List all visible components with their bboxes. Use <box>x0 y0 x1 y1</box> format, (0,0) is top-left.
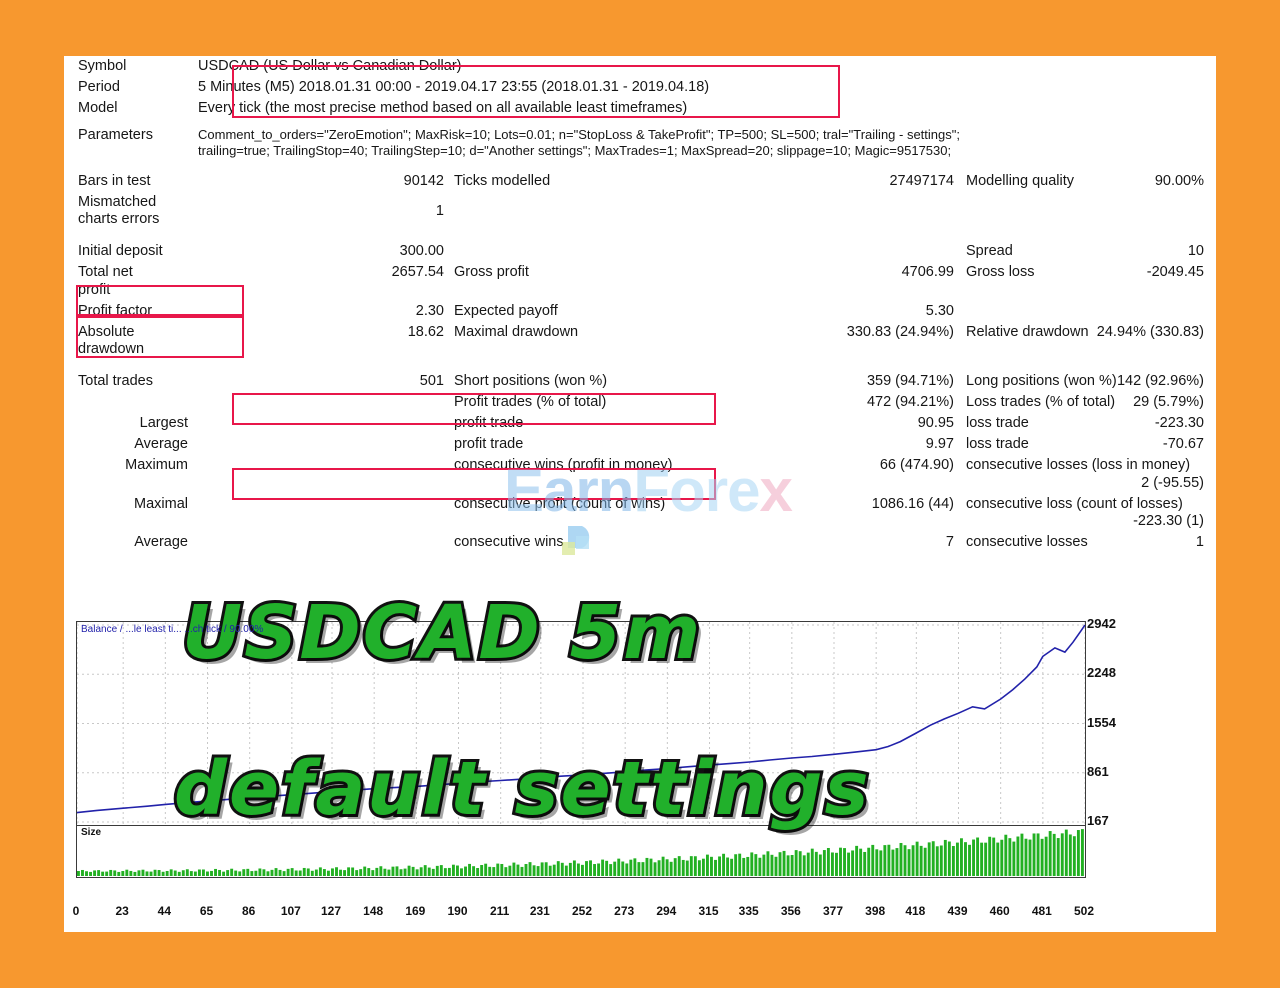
x-axis-tick: 439 <box>947 904 967 918</box>
profit-factor-label: Profit factor <box>64 301 192 322</box>
loss-trades-label: Loss trades (% of total) <box>966 394 1115 410</box>
row-largest: Largest profit trade 90.95 loss trade -2… <box>64 413 1216 434</box>
average-loss-trade-label: loss trade <box>966 436 1029 452</box>
absolute-drawdown-label-line1: Absolute <box>78 324 188 341</box>
x-axis-tick: 315 <box>698 904 718 918</box>
modelling-quality-label: Modelling quality <box>966 173 1074 189</box>
x-axis-tick: 356 <box>781 904 801 918</box>
gross-profit-label: Gross profit <box>448 262 704 300</box>
max-consecutive-wins-value: 66 (474.90) <box>704 455 960 493</box>
relative-drawdown-label: Relative drawdown <box>966 324 1089 340</box>
short-positions-label: Short positions (won %) <box>448 371 704 392</box>
x-axis-tick: 23 <box>115 904 128 918</box>
mismatched-charts-errors-label: Mismatched charts errors <box>64 192 192 230</box>
equity-chart-container: Balance / ...le least ti... ...ch tick /… <box>76 621 1156 901</box>
profit-trades-label: Profit trades (% of total) <box>448 392 704 413</box>
total-net-profit-label-line2: profit <box>78 282 188 299</box>
x-axis-tick: 107 <box>281 904 301 918</box>
x-axis-tick: 460 <box>990 904 1010 918</box>
x-axis-tick: 0 <box>73 904 80 918</box>
initial-deposit-label: Initial deposit <box>64 241 192 262</box>
ticks-modelled-value: 27497174 <box>704 171 960 192</box>
short-positions-value: 359 (94.71%) <box>704 371 960 392</box>
max-consecutive-losses-value: 2 (-95.55) <box>1141 475 1212 492</box>
long-positions-value: 142 (92.96%) <box>1117 373 1212 390</box>
mismatched-label-line1: Mismatched <box>78 194 188 211</box>
relative-drawdown-cell: Relative drawdown 24.94% (330.83) <box>960 322 1216 360</box>
x-axis-tick: 377 <box>823 904 843 918</box>
row-absolute-drawdown: Absolute drawdown 18.62 Maximal drawdown… <box>64 322 1216 360</box>
balance-curve-svg <box>77 622 1085 825</box>
period-value: 5 Minutes (M5) 2018.01.31 00:00 - 2019.0… <box>192 77 1216 98</box>
largest-profit-trade-label: profit trade <box>448 413 704 434</box>
chart-legend: Balance / ...le least ti... ...ch tick /… <box>81 624 263 635</box>
long-positions-cell: Long positions (won %) 142 (92.96%) <box>960 371 1216 392</box>
average-profit-trade-label: profit trade <box>448 434 704 455</box>
model-value: Every tick (the most precise method base… <box>192 98 1216 119</box>
row-profit-factor: Profit factor 2.30 Expected payoff 5.30 <box>64 301 1216 322</box>
average-label: Average <box>64 434 192 455</box>
avg-consecutive-wins-label: consecutive wins <box>448 532 704 553</box>
row-average-consecutive: Average consecutive wins 7 consecutive l… <box>64 532 1216 553</box>
max-consecutive-wins-label: consecutive wins (profit in money) <box>448 455 704 493</box>
parameters-label: Parameters <box>64 125 192 160</box>
largest-label: Largest <box>64 413 192 434</box>
x-axis-tick: 335 <box>739 904 759 918</box>
maximum-label: Maximum <box>64 455 192 493</box>
size-panel-label: Size <box>81 827 101 838</box>
maximal-consecutive-loss-cell: consecutive loss (count of losses) -223.… <box>960 494 1216 532</box>
y-axis-tick: 2942 <box>1087 616 1116 631</box>
maximal-drawdown-label: Maximal drawdown <box>448 322 704 360</box>
size-chart-panel: Size <box>76 826 1086 878</box>
largest-loss-trade-cell: loss trade -223.30 <box>960 413 1216 434</box>
row-average: Average profit trade 9.97 loss trade -70… <box>64 434 1216 455</box>
spread-cell: Spread 10 <box>960 241 1216 262</box>
x-axis-tick: 169 <box>405 904 425 918</box>
parameters-line-2: trailing=true; TrailingStop=40; Trailing… <box>198 143 1212 158</box>
symbol-label: Symbol <box>64 56 192 77</box>
avg-consecutive-losses-value: 1 <box>1196 534 1212 551</box>
gross-profit-value: 4706.99 <box>704 262 960 300</box>
absolute-drawdown-value: 18.62 <box>192 322 448 360</box>
maximal-label: Maximal <box>64 494 192 532</box>
model-label: Model <box>64 98 192 119</box>
x-axis-tick: 65 <box>200 904 213 918</box>
backtest-report: Symbol USDCAD (US Dollar vs Canadian Dol… <box>64 56 1216 553</box>
x-axis-tick: 148 <box>363 904 383 918</box>
initial-deposit-value: 300.00 <box>192 241 448 262</box>
expected-payoff-label: Expected payoff <box>448 301 704 322</box>
x-axis-tick: 127 <box>321 904 341 918</box>
avg-consecutive-losses-label: consecutive losses <box>966 534 1088 550</box>
spread-label: Spread <box>966 243 1013 259</box>
row-bars-in-test: Bars in test 90142 Ticks modelled 274971… <box>64 171 1216 192</box>
long-positions-label: Long positions (won %) <box>966 373 1117 389</box>
gross-loss-label: Gross loss <box>966 264 1035 280</box>
parameters-value: Comment_to_orders="ZeroEmotion"; MaxRisk… <box>192 125 1216 160</box>
maximal-consecutive-loss-value: -223.30 (1) <box>1133 513 1212 530</box>
mismatched-charts-errors-value: 1 <box>192 192 448 230</box>
x-axis-tick: 190 <box>447 904 467 918</box>
x-axis-tick: 418 <box>905 904 925 918</box>
x-axis-tick: 231 <box>530 904 550 918</box>
total-trades-label: Total trades <box>64 371 192 392</box>
average2-label: Average <box>64 532 192 553</box>
expected-payoff-value: 5.30 <box>704 301 960 322</box>
maximal-consecutive-profit-label: consecutive profit (count of wins) <box>448 494 704 532</box>
absolute-drawdown-label-line2: drawdown <box>78 341 188 358</box>
modelling-quality-cell: Modelling quality 90.00% <box>960 171 1216 192</box>
maximal-consecutive-loss-label: consecutive loss (count of losses) <box>966 496 1183 512</box>
bars-in-test-label: Bars in test <box>64 171 192 192</box>
loss-trades-cell: Loss trades (% of total) 29 (5.79%) <box>960 392 1216 413</box>
x-axis-tick: 294 <box>656 904 676 918</box>
absolute-drawdown-label: Absolute drawdown <box>64 322 192 360</box>
report-page: Symbol USDCAD (US Dollar vs Canadian Dol… <box>64 56 1216 932</box>
x-axis-tick: 481 <box>1032 904 1052 918</box>
y-axis-tick: 167 <box>1087 813 1109 828</box>
average-loss-trade-value: -70.67 <box>1163 436 1212 453</box>
ticks-modelled-label: Ticks modelled <box>448 171 704 192</box>
average-profit-trade-value: 9.97 <box>704 434 960 455</box>
row-initial-deposit: Initial deposit 300.00 Spread 10 <box>64 241 1216 262</box>
mismatched-label-line2: charts errors <box>78 211 188 228</box>
modelling-quality-value: 90.00% <box>1155 173 1212 190</box>
profit-factor-value: 2.30 <box>192 301 448 322</box>
x-axis-tick: 273 <box>614 904 634 918</box>
avg-consecutive-losses-cell: consecutive losses 1 <box>960 532 1216 553</box>
chart-x-axis: 0234465861071271481691902112312522732943… <box>76 904 1086 926</box>
average-loss-trade-cell: loss trade -70.67 <box>960 434 1216 455</box>
largest-profit-trade-value: 90.95 <box>704 413 960 434</box>
total-net-profit-label-line1: Total net <box>78 264 188 281</box>
x-axis-tick: 44 <box>158 904 171 918</box>
chart-y-axis: 294222481554861167 <box>1087 621 1157 827</box>
period-label: Period <box>64 77 192 98</box>
row-symbol: Symbol USDCAD (US Dollar vs Canadian Dol… <box>64 56 1216 77</box>
largest-loss-trade-value: -223.30 <box>1155 415 1212 432</box>
x-axis-tick: 252 <box>572 904 592 918</box>
y-axis-tick: 2248 <box>1087 665 1116 680</box>
y-axis-tick: 861 <box>1087 764 1109 779</box>
row-profit-trades: Profit trades (% of total) 472 (94.21%) … <box>64 392 1216 413</box>
size-bars-svg <box>77 826 1085 876</box>
row-mismatched-charts-errors: Mismatched charts errors 1 <box>64 192 1216 230</box>
bars-in-test-value: 90142 <box>192 171 448 192</box>
gross-loss-value: -2049.45 <box>1147 264 1212 281</box>
loss-trades-value: 29 (5.79%) <box>1133 394 1212 411</box>
profit-trades-value: 472 (94.21%) <box>704 392 960 413</box>
x-axis-tick: 86 <box>242 904 255 918</box>
row-parameters: Parameters Comment_to_orders="ZeroEmotio… <box>64 125 1216 160</box>
row-period: Period 5 Minutes (M5) 2018.01.31 00:00 -… <box>64 77 1216 98</box>
relative-drawdown-value: 24.94% (330.83) <box>1097 324 1212 341</box>
x-axis-tick: 502 <box>1074 904 1094 918</box>
maximal-drawdown-value: 330.83 (24.94%) <box>704 322 960 360</box>
max-consecutive-losses-cell: consecutive losses (loss in money) 2 (-9… <box>960 455 1216 493</box>
gross-loss-cell: Gross loss -2049.45 <box>960 262 1216 300</box>
max-consecutive-losses-label: consecutive losses (loss in money) <box>966 457 1190 473</box>
spread-value: 10 <box>1188 243 1212 260</box>
symbol-value: USDCAD (US Dollar vs Canadian Dollar) <box>192 56 1216 77</box>
total-trades-value: 501 <box>192 371 448 392</box>
row-total-net-profit: Total net profit 2657.54 Gross profit 47… <box>64 262 1216 300</box>
row-maximum-consecutive: Maximum consecutive wins (profit in mone… <box>64 455 1216 493</box>
total-net-profit-value: 2657.54 <box>192 262 448 300</box>
row-model: Model Every tick (the most precise metho… <box>64 98 1216 119</box>
x-axis-tick: 211 <box>490 904 509 918</box>
maximal-consecutive-profit-value: 1086.16 (44) <box>704 494 960 532</box>
total-net-profit-label: Total net profit <box>64 262 192 300</box>
balance-chart-panel: Balance / ...le least ti... ...ch tick /… <box>76 621 1086 826</box>
x-axis-tick: 398 <box>865 904 885 918</box>
y-axis-tick: 1554 <box>1087 715 1116 730</box>
largest-loss-trade-label: loss trade <box>966 415 1029 431</box>
parameters-line-1: Comment_to_orders="ZeroEmotion"; MaxRisk… <box>198 127 1212 142</box>
row-maximal-consecutive: Maximal consecutive profit (count of win… <box>64 494 1216 532</box>
row-total-trades: Total trades 501 Short positions (won %)… <box>64 371 1216 392</box>
avg-consecutive-wins-value: 7 <box>704 532 960 553</box>
